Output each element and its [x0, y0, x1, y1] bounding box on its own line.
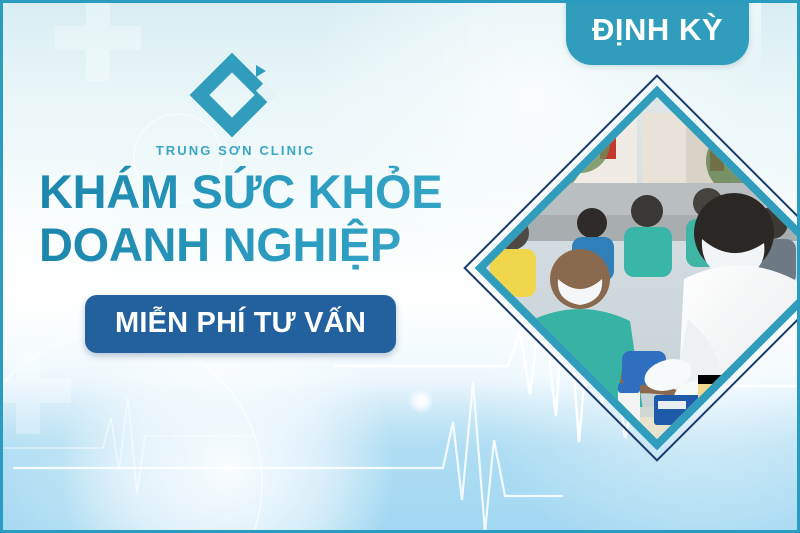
clinic-photo-image: [486, 97, 800, 439]
periodic-badge: ĐỊNH KỲ: [566, 0, 749, 65]
brand-logo: TRUNG SƠN CLINIC: [153, 51, 318, 158]
headline-line-1: KHÁM SỨC KHỎE: [39, 165, 479, 218]
medical-cross-icon: [0, 348, 71, 434]
photo-diamond: [516, 127, 798, 409]
headline: KHÁM SỨC KHỎE DOANH NGHIỆP: [39, 165, 479, 271]
medical-cross-icon: [443, 23, 513, 93]
promo-banner: ĐỊNH KỲ TRUNG SƠN CLINIC KHÁM SỨC KHỎE D…: [0, 0, 800, 533]
headline-line-2: DOANH NGHIỆP: [39, 218, 479, 271]
badge-label: ĐỊNH KỲ: [592, 14, 723, 45]
brand-name: TRUNG SƠN CLINIC: [153, 143, 318, 158]
clinic-photo: [486, 97, 800, 439]
cta-label: MIỄN PHÍ TƯ VẤN: [115, 307, 366, 339]
medical-cross-icon: [55, 0, 141, 81]
decorative-spark: [408, 388, 434, 414]
diamond-outline-logo-icon: [153, 51, 318, 137]
free-consultation-button[interactable]: MIỄN PHÍ TƯ VẤN: [85, 295, 396, 353]
